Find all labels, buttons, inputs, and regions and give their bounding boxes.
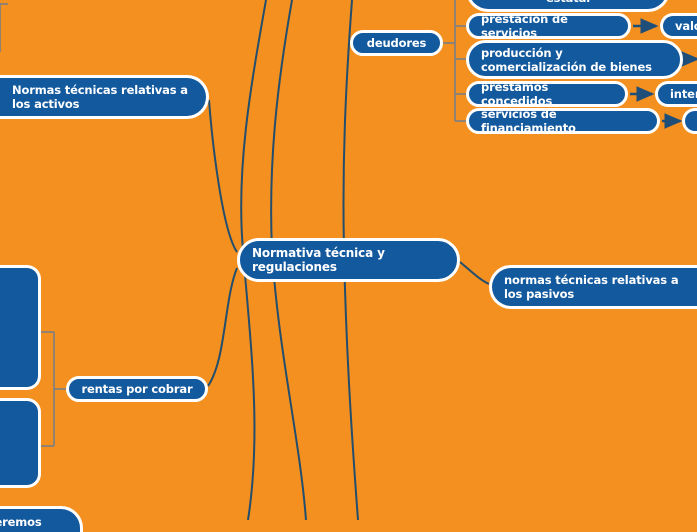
curve-center-to-rentas xyxy=(208,268,237,386)
node-label: valor xyxy=(675,19,697,33)
mindmap-canvas: Normativa técnica y regulaciones Normas … xyxy=(0,0,697,520)
node-label: Normas técnicas relativas a los activos xyxy=(12,83,188,111)
node-prestamos-concedidos[interactable]: prestamos concedidos xyxy=(466,81,628,107)
node-label: prestación de servicios xyxy=(481,12,616,40)
node-label: estatal xyxy=(546,0,590,5)
node-label: prestamos concedidos xyxy=(481,80,613,108)
node-deudores[interactable]: deudores xyxy=(350,30,443,56)
node-s-clipped[interactable]: s xyxy=(682,108,697,134)
left-rail xyxy=(0,4,8,52)
node-estatal[interactable]: estatal xyxy=(466,0,670,12)
node-label: rentas por cobrar xyxy=(81,382,192,396)
node-rentas-por-cobrar[interactable]: rentas por cobrar xyxy=(66,376,208,402)
bracket-rentas-left-boxes xyxy=(41,332,66,446)
node-interes-clipped[interactable]: interes xyxy=(655,81,697,107)
node-servicios-de-financiamiento[interactable]: servicios de financiamiento xyxy=(466,108,660,134)
node-normas-tecnicas-activos[interactable]: Normas técnicas relativas a los activos xyxy=(0,75,209,119)
node-label: noceremos xyxy=(0,515,42,529)
node-label: deudores xyxy=(367,36,426,50)
node-left-detail-box-2[interactable]: or las s n xyxy=(0,398,41,488)
curve-center-to-normas-pasivos xyxy=(460,262,489,284)
node-label: servicios de financiamiento xyxy=(481,107,645,135)
node-label: Normativa técnica y regulaciones xyxy=(252,246,385,274)
node-valor-clipped[interactable]: valor xyxy=(660,13,697,39)
node-label: normas técnicas relativas a los pasivos xyxy=(504,273,678,301)
node-prestacion-de-servicios[interactable]: prestación de servicios xyxy=(466,13,631,39)
node-label: producción y comercialización de bienes xyxy=(481,46,652,74)
bracket-deudores-children xyxy=(443,0,466,121)
node-normas-tecnicas-pasivos[interactable]: normas técnicas relativas a los pasivos xyxy=(489,265,697,309)
curve-center-to-normas-activos xyxy=(209,100,237,252)
node-bottom-left-clipped[interactable]: noceremos xyxy=(0,506,83,532)
node-central-normativa-tecnica[interactable]: Normativa técnica y regulaciones xyxy=(237,238,460,282)
node-label: interes xyxy=(670,87,697,101)
node-produccion-y-comercializacion-de-bienes[interactable]: producción y comercialización de bienes xyxy=(466,40,683,79)
node-left-detail-box-1[interactable]: s que la el la o el xyxy=(0,265,41,390)
